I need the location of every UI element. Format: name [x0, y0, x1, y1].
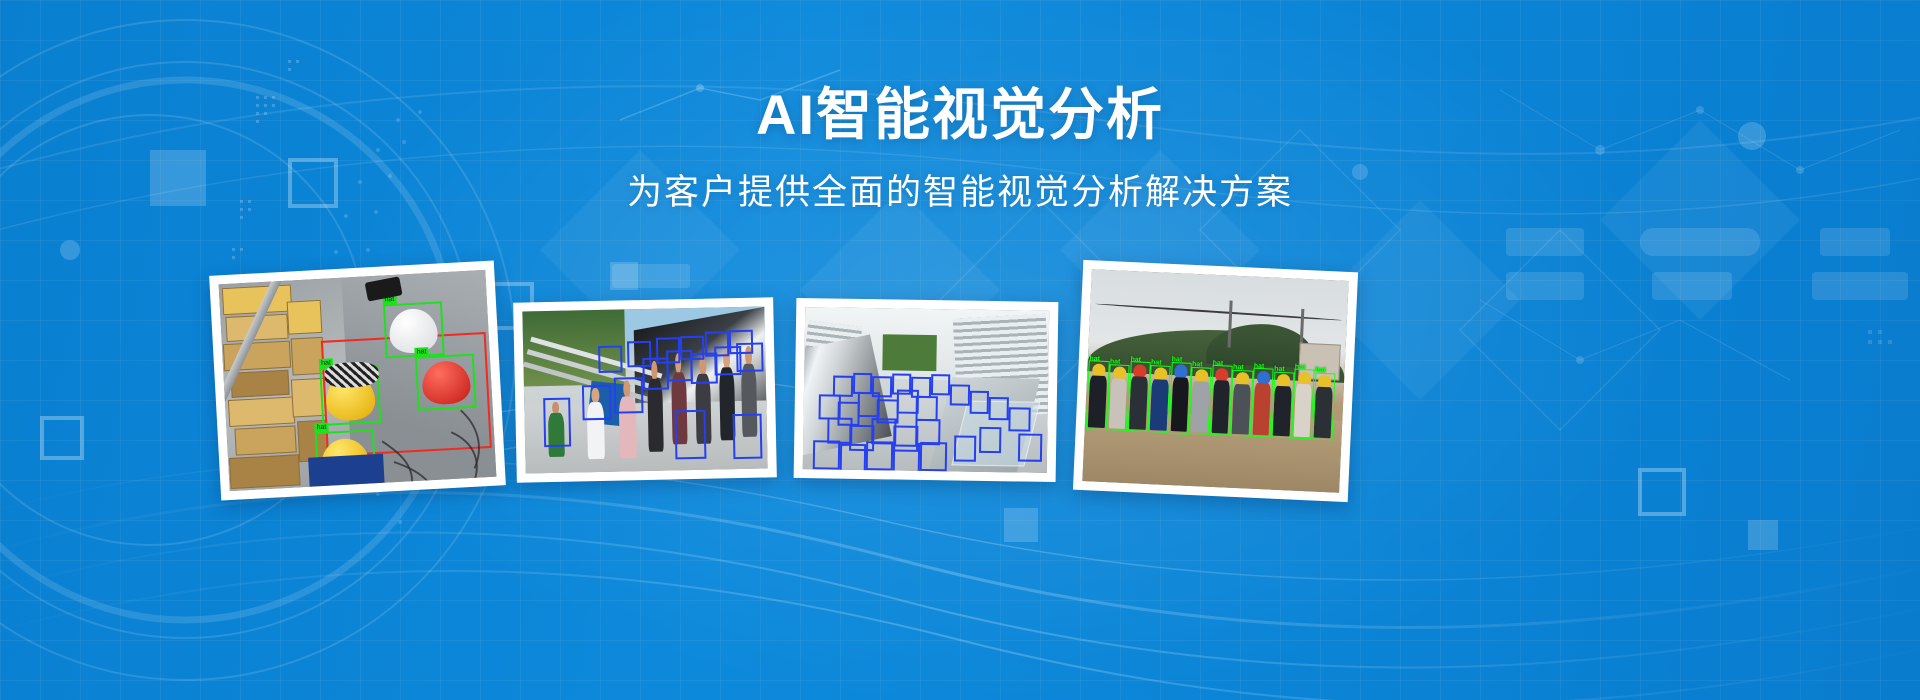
detection-box: [812, 440, 839, 470]
screenshot-frame: [522, 306, 767, 473]
power-line: [1095, 303, 1341, 321]
banner-text-block: AI智能视觉分析 为客户提供全面的智能视觉分析解决方案: [0, 84, 1920, 214]
detection-box: [872, 376, 892, 397]
detection-box: [1018, 434, 1043, 462]
detection-box: [598, 345, 623, 373]
detection-box: [989, 397, 1009, 420]
detection-box: [979, 426, 1001, 452]
detection-box: [853, 373, 873, 394]
detection-box: [892, 373, 912, 394]
detection-box: [833, 376, 853, 397]
banner-subtitle: 为客户提供全面的智能视觉分析解决方案: [0, 172, 1920, 214]
ai-vision-banner: AI智能视觉分析 为客户提供全面的智能视觉分析解决方案: [0, 0, 1920, 700]
detection-box: [1008, 407, 1030, 432]
detection-box: [544, 398, 572, 447]
detection-box: [627, 341, 652, 367]
detection-box: [954, 436, 976, 462]
detection-box: [582, 384, 612, 420]
detection-box: [733, 413, 763, 459]
floor-cables: [219, 270, 497, 491]
worker-row: hat hat hat: [1082, 358, 1344, 492]
detection-box: [674, 410, 706, 459]
detection-box: [866, 441, 893, 471]
scene-station-platform: [803, 307, 1050, 473]
screenshot-frame: hat hat hat: [1082, 269, 1348, 492]
detection-box: [911, 377, 931, 398]
detection-box: [920, 442, 947, 472]
detection-box: [970, 391, 990, 414]
showcase-gallery: hat hat hat hat: [0, 258, 1920, 528]
detection-box: [656, 337, 681, 363]
detection-box: [613, 377, 643, 413]
detection-box: [680, 335, 705, 360]
screenshot-frame: [803, 307, 1050, 473]
detection-box: [916, 396, 938, 421]
detection-box: [704, 332, 729, 357]
screenshot-frame: hat hat hat hat: [219, 270, 497, 491]
gallery-card-crowd-density-platform[interactable]: [794, 298, 1059, 482]
gallery-card-pedestrian-detection-footbridge[interactable]: [513, 297, 777, 482]
greenery-through-opening: [882, 334, 936, 370]
detection-box: [839, 444, 866, 473]
detection-box: [950, 384, 970, 405]
detection-box: [931, 374, 951, 395]
detection-box: [728, 329, 753, 354]
gallery-card-hardhat-recognition-outdoor[interactable]: hat hat hat: [1073, 260, 1358, 502]
scene-footbridge: [522, 306, 767, 473]
detection-box: [893, 445, 920, 473]
banner-title: AI智能视觉分析: [0, 84, 1920, 146]
scene-warehouse: hat hat hat hat: [219, 270, 497, 491]
scene-outdoor-group: hat hat hat: [1082, 269, 1348, 492]
gallery-card-helmet-detection-warehouse[interactable]: hat hat hat hat: [209, 260, 506, 500]
